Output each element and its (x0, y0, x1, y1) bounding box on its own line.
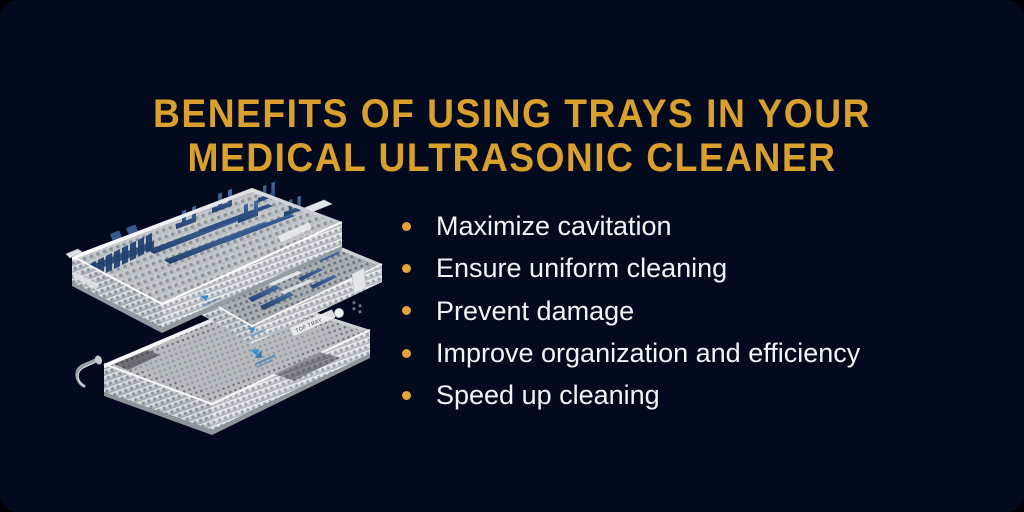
list-item-label: Speed up cleaning (436, 380, 660, 410)
list-item-label: Improve organization and efficiency (436, 338, 860, 368)
benefits-list: Maximize cavitation Ensure uniform clean… (402, 205, 860, 416)
bullet-dot-icon (402, 349, 411, 358)
list-item: Ensure uniform cleaning (402, 247, 860, 289)
list-item-label: Prevent damage (436, 296, 634, 326)
list-item: Improve organization and efficiency (402, 332, 860, 374)
product-photo-sterilization-trays: TOP TRAY (52, 178, 397, 440)
list-item-label: Ensure uniform cleaning (436, 253, 727, 283)
top-tray-corner-tab-right (304, 200, 332, 212)
title-line-1: BENEFITS OF USING TRAYS IN YOUR (36, 92, 988, 136)
bottom-tray-handle-mount (94, 355, 104, 366)
title-line-2: MEDICAL ULTRASONIC CLEANER (36, 136, 988, 180)
bullet-dot-icon (402, 306, 411, 315)
infographic-banner: BENEFITS OF USING TRAYS IN YOUR MEDICAL … (0, 0, 1024, 512)
bullet-dot-icon (402, 391, 411, 400)
middle-tray-perf-marks (352, 301, 362, 314)
page-title: BENEFITS OF USING TRAYS IN YOUR MEDICAL … (0, 92, 1024, 180)
list-item: Prevent damage (402, 290, 860, 332)
middle-tray-indicator-dial (334, 308, 343, 317)
bullet-dot-icon (402, 222, 411, 231)
list-item: Maximize cavitation (402, 205, 860, 247)
list-item: Speed up cleaning (402, 374, 860, 416)
bullet-dot-icon (402, 264, 411, 273)
list-item-label: Maximize cavitation (436, 211, 672, 241)
